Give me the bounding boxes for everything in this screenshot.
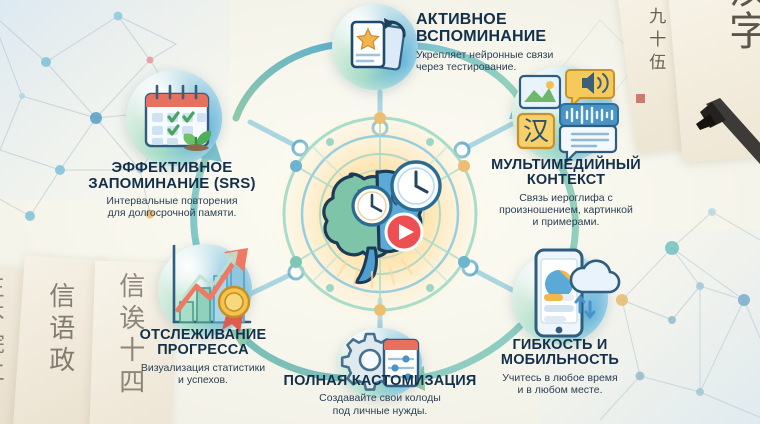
- active-recall-desc-line2: через тестирование.: [416, 61, 516, 73]
- srs-title-line1: ЭФФЕКТИВНОЕ: [112, 159, 233, 176]
- srs-text: ЭФФЕКТИВНОЕ ЗАПОМИНАНИЕ (SRS) Интервальн…: [12, 160, 332, 220]
- multimedia-text: МУЛЬТИМЕДИЙНЫЙ КОНТЕКСТ Связь иероглифа …: [476, 158, 656, 229]
- progress-title-line1: ОТСЛЕЖИВАНИЕ: [140, 327, 267, 343]
- infographic-canvas: 三九十伍 汉字 者 正不院仁 信语政 信诶十四: [0, 0, 760, 424]
- progress-title-line2: ПРОГРЕССА: [157, 342, 249, 358]
- media-cards-icon: 汉: [512, 62, 620, 162]
- multimedia-desc-line3: и примерами.: [533, 216, 600, 228]
- progress-desc-line2: и успехов.: [178, 374, 228, 386]
- mobility-title-line2: МОБИЛЬНОСТЬ: [501, 352, 619, 368]
- customization-text: ПОЛНАЯ КАСТОМИЗАЦИЯ Создавайте свои коло…: [240, 374, 520, 417]
- customization-title: ПОЛНАЯ КАСТОМИЗАЦИЯ: [283, 373, 476, 389]
- multimedia-desc-line2: произношением, картинкой: [499, 204, 633, 216]
- progress-desc-line1: Визуализация статистики: [141, 362, 265, 374]
- srs-desc-line2: для долгосрочной памяти.: [108, 207, 237, 219]
- multimedia-title-line1: МУЛЬТИМЕДИЙНЫЙ: [491, 157, 641, 173]
- hanzi-glyph: 汉: [523, 117, 549, 147]
- active-recall-title-line1: АКТИВНОЕ: [416, 11, 507, 28]
- flashcards-star-icon: [344, 14, 410, 80]
- calendar-sprout-icon: [140, 82, 214, 154]
- srs-desc-line1: Интервальные повторения: [106, 195, 237, 207]
- customization-desc-line2: под личные нужды.: [333, 405, 428, 417]
- multimedia-desc-line1: Связь иероглифа с: [519, 192, 613, 204]
- mobility-desc-line2: и в любом месте.: [517, 384, 602, 396]
- multimedia-title-line2: КОНТЕКСТ: [527, 172, 605, 188]
- growth-chart-medal-icon: [152, 240, 262, 340]
- customization-desc-line1: Создавайте свои колоды: [319, 392, 441, 404]
- mobility-title-line1: ГИБКОСТЬ И: [512, 337, 607, 353]
- active-recall-title-line2: ВСПОМИНАНИЕ: [416, 28, 546, 45]
- active-recall-desc-line1: Укрепляет нейронные связи: [416, 49, 553, 61]
- srs-title-line2: ЗАПОМИНАНИЕ (SRS): [88, 175, 255, 192]
- phone-cloud-sync-icon: [514, 246, 618, 346]
